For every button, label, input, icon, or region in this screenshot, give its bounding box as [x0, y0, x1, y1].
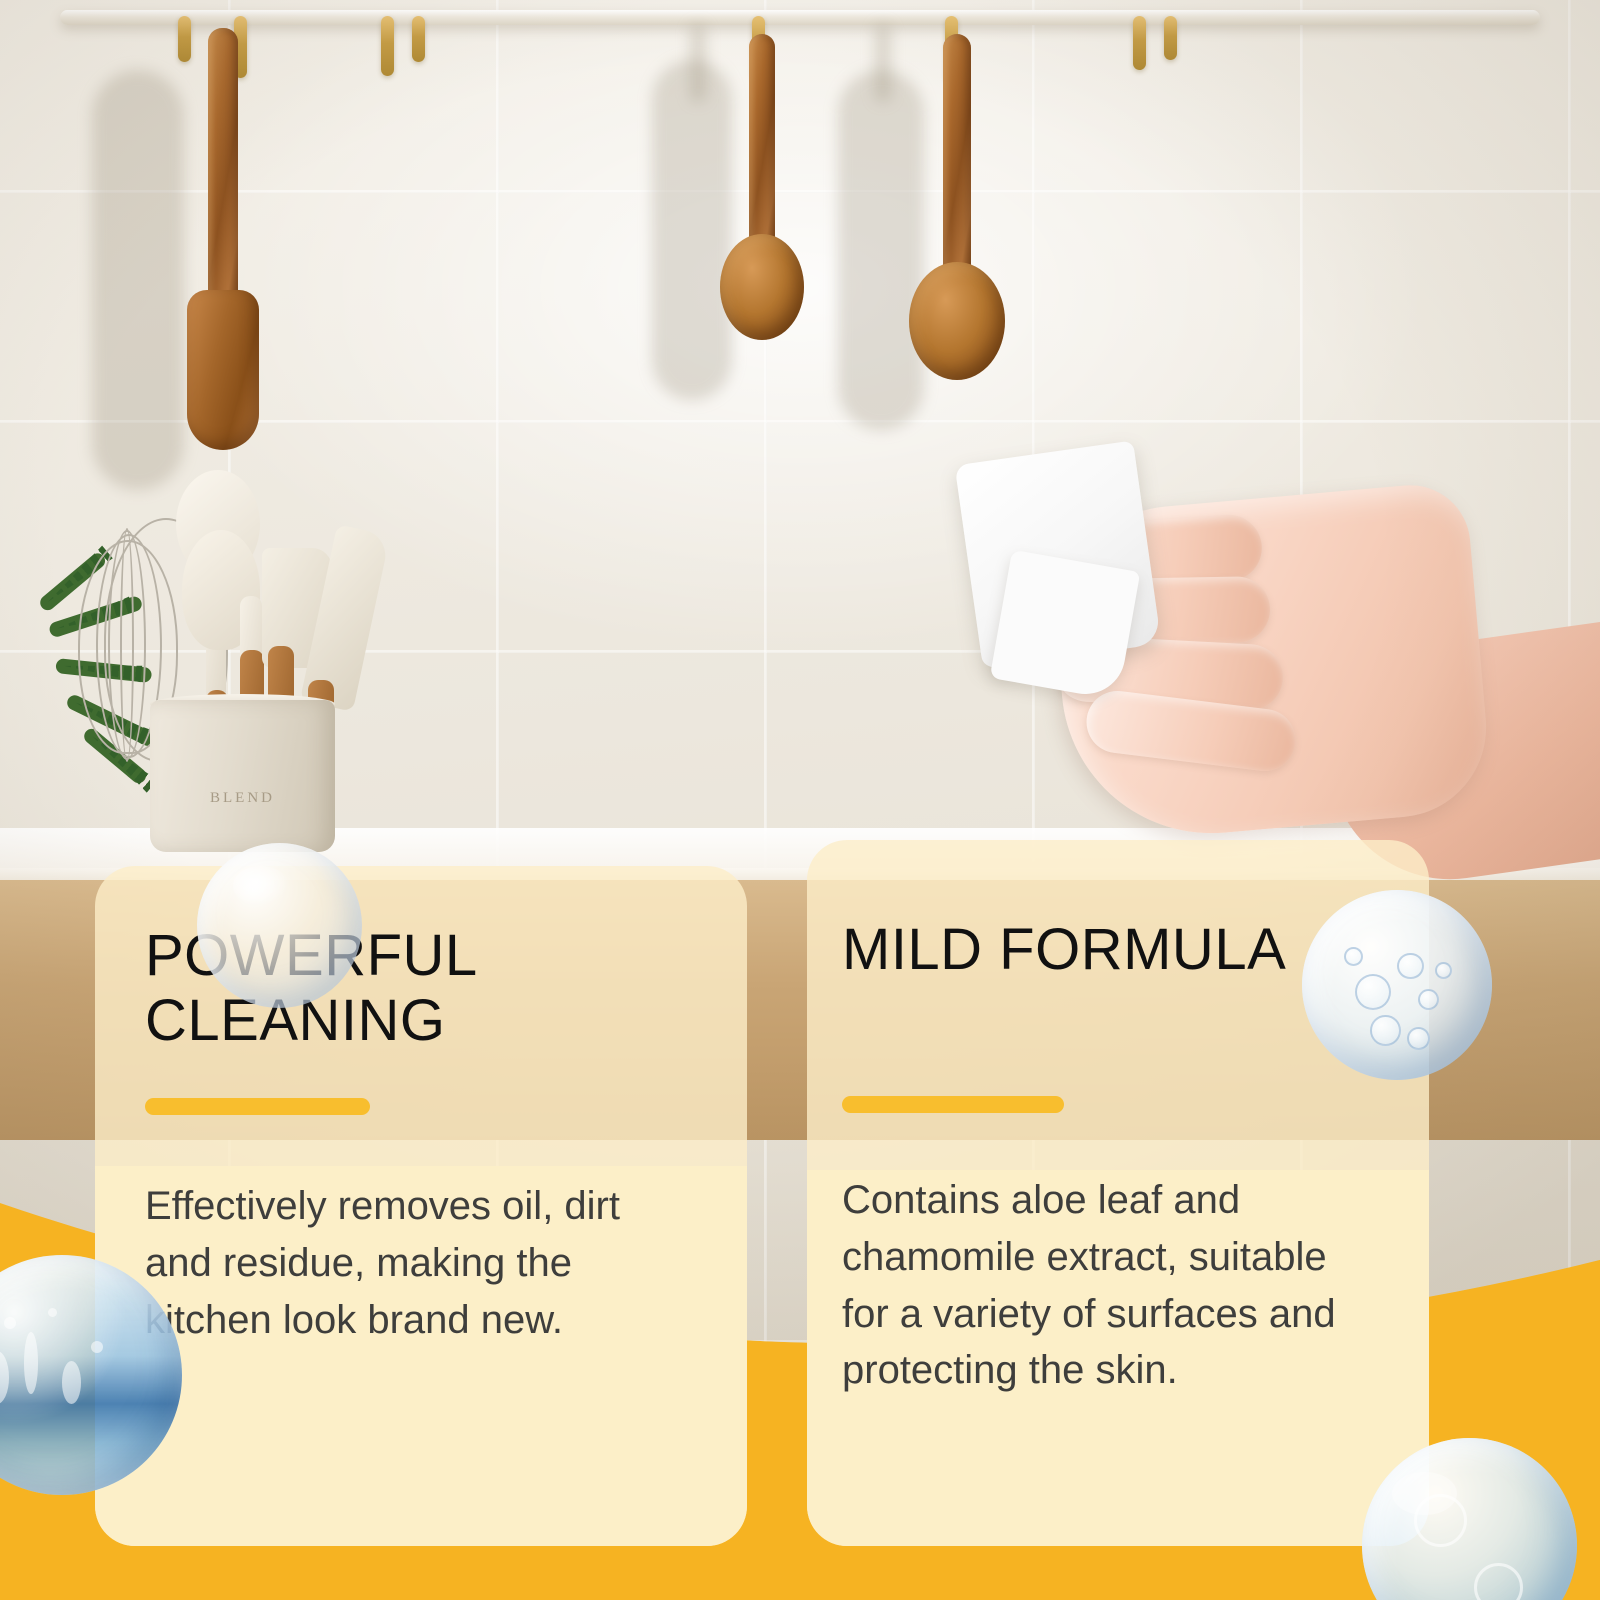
bubble-top-left-icon: [197, 843, 362, 1008]
title-accent-bar: [842, 1096, 1064, 1113]
card-body-text: Contains aloe leaf and chamomile extract…: [842, 1172, 1362, 1399]
title-accent-bar: [145, 1098, 370, 1115]
card-content: POWERFUL CLEANING Effectively removes oi…: [95, 866, 747, 1546]
infographic-canvas: BLEND POWERFUL CLEANING Effectively remo…: [0, 0, 1600, 1600]
bubble-right-top-icon: [1302, 890, 1492, 1080]
card-body-text: Effectively removes oil, dirt and residu…: [145, 1178, 675, 1348]
feature-card-powerful-cleaning[interactable]: POWERFUL CLEANING Effectively removes oi…: [95, 866, 747, 1546]
